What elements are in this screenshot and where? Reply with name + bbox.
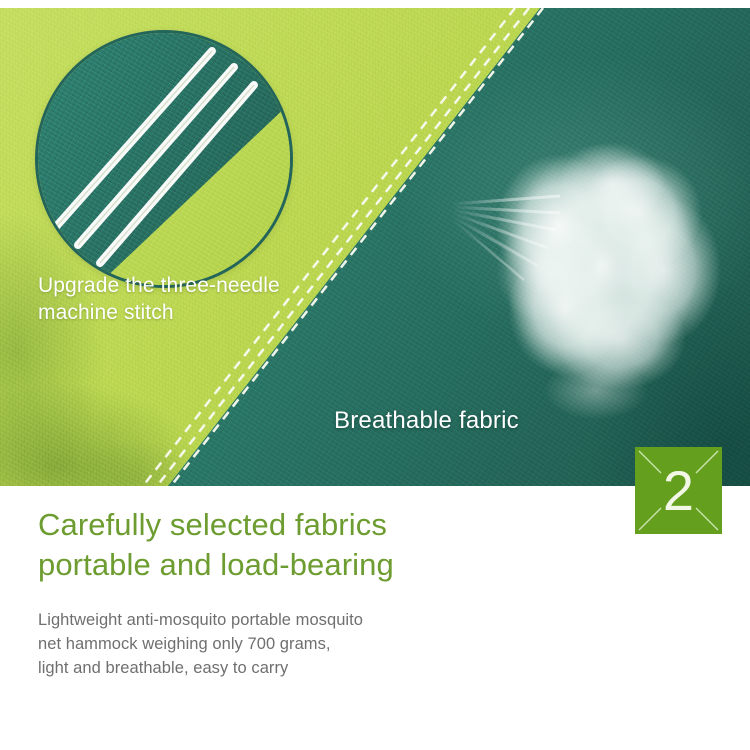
headline: Carefully selected fabrics portable and …: [38, 505, 394, 585]
upgrade-caption-line2: machine stitch: [38, 299, 280, 326]
upgrade-caption: Upgrade the three-needle machine stitch: [38, 272, 280, 326]
section-number-badge: 2: [635, 447, 722, 534]
upgrade-caption-line1: Upgrade the three-needle: [38, 272, 280, 299]
product-feature-panel: Upgrade the three-needle machine stitch …: [0, 0, 750, 750]
fabric-photo: Upgrade the three-needle machine stitch …: [0, 8, 750, 486]
magnifier-circle-inset: [38, 33, 290, 285]
top-white-strip: [0, 0, 750, 8]
body-copy-line3: light and breathable, easy to carry: [38, 656, 363, 680]
inset-three-needle-stitch-icon: [38, 33, 290, 285]
body-copy-line1: Lightweight anti-mosquito portable mosqu…: [38, 608, 363, 632]
breathable-caption: Breathable fabric: [334, 406, 519, 436]
headline-line1: Carefully selected fabrics: [38, 505, 394, 545]
body-copy-line2: net hammock weighing only 700 grams,: [38, 632, 363, 656]
headline-line2: portable and load-bearing: [38, 545, 394, 585]
section-number: 2: [635, 447, 722, 534]
body-copy: Lightweight anti-mosquito portable mosqu…: [38, 608, 363, 680]
